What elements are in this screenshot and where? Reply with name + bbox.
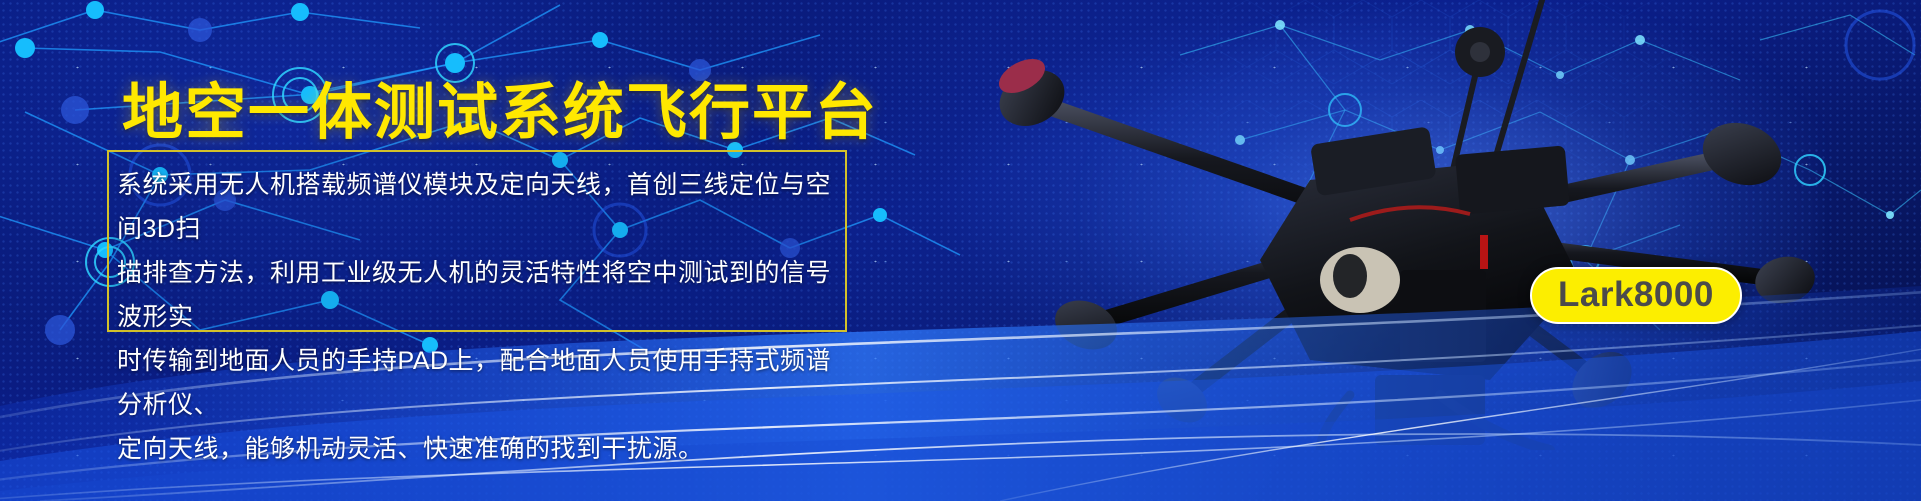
description-line-3: 时传输到地面人员的手持PAD上，配合地面人员使用手持式频谱分析仪、 (117, 339, 849, 427)
description-line-2: 描排查方法，利用工业级无人机的灵活特性将空中测试到的信号波形实 (117, 251, 849, 339)
description-line-1: 系统采用无人机搭载频谱仪模块及定向天线，首创三线定位与空间3D扫 (117, 163, 849, 251)
description-line-4: 定向天线，能够机动灵活、快速准确的找到干扰源。 (117, 427, 849, 471)
description-text: 系统采用无人机搭载频谱仪模块及定向天线，首创三线定位与空间3D扫 描排查方法，利… (117, 163, 849, 471)
product-badge: Lark8000 (1530, 267, 1742, 324)
product-banner: 地空一体测试系统飞行平台 系统采用无人机搭载频谱仪模块及定向天线，首创三线定位与… (0, 0, 1921, 501)
page-title: 地空一体测试系统飞行平台 (122, 82, 878, 143)
